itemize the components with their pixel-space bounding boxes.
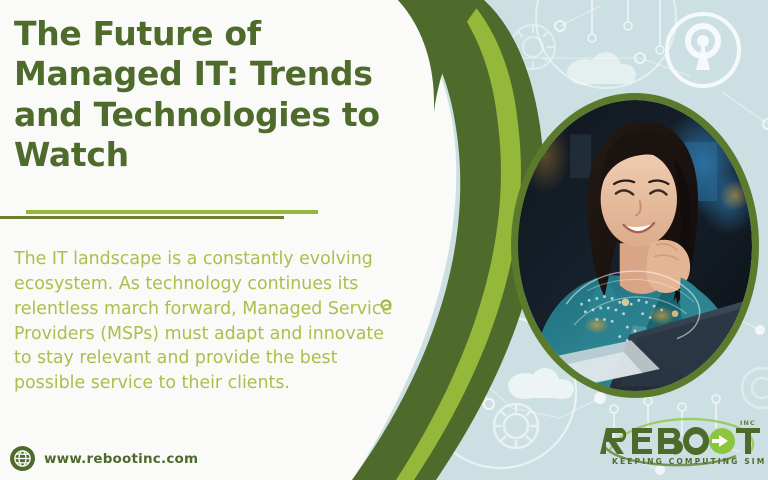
- photo-image: [518, 100, 752, 391]
- logo-power-icon: [709, 428, 735, 454]
- body-paragraph: The IT landscape is a constantly evolvin…: [14, 247, 400, 395]
- photo-ring-border: [511, 93, 759, 398]
- logo-inc-label: INC: [740, 419, 756, 427]
- website-footer[interactable]: www.rebootinc.com: [10, 446, 198, 471]
- logo-wordmark: [600, 427, 709, 455]
- text-column: The Future of Managed IT: Trends and Tec…: [14, 14, 404, 175]
- website-url-label: www.rebootinc.com: [44, 451, 198, 467]
- reboot-logo[interactable]: INC KEEPING COMPUTING SIMPLE: [600, 416, 764, 468]
- divider-line-light: [26, 210, 318, 214]
- hero-photo: [511, 93, 759, 398]
- logo-tagline: KEEPING COMPUTING SIMPLE: [612, 457, 764, 466]
- blog-banner: The Future of Managed IT: Trends and Tec…: [0, 0, 768, 480]
- logo-letter-t: [736, 428, 760, 454]
- divider-line-dark: [0, 216, 284, 219]
- globe-icon: [10, 446, 35, 471]
- page-title: The Future of Managed IT: Trends and Tec…: [14, 14, 404, 175]
- title-divider: [0, 210, 404, 222]
